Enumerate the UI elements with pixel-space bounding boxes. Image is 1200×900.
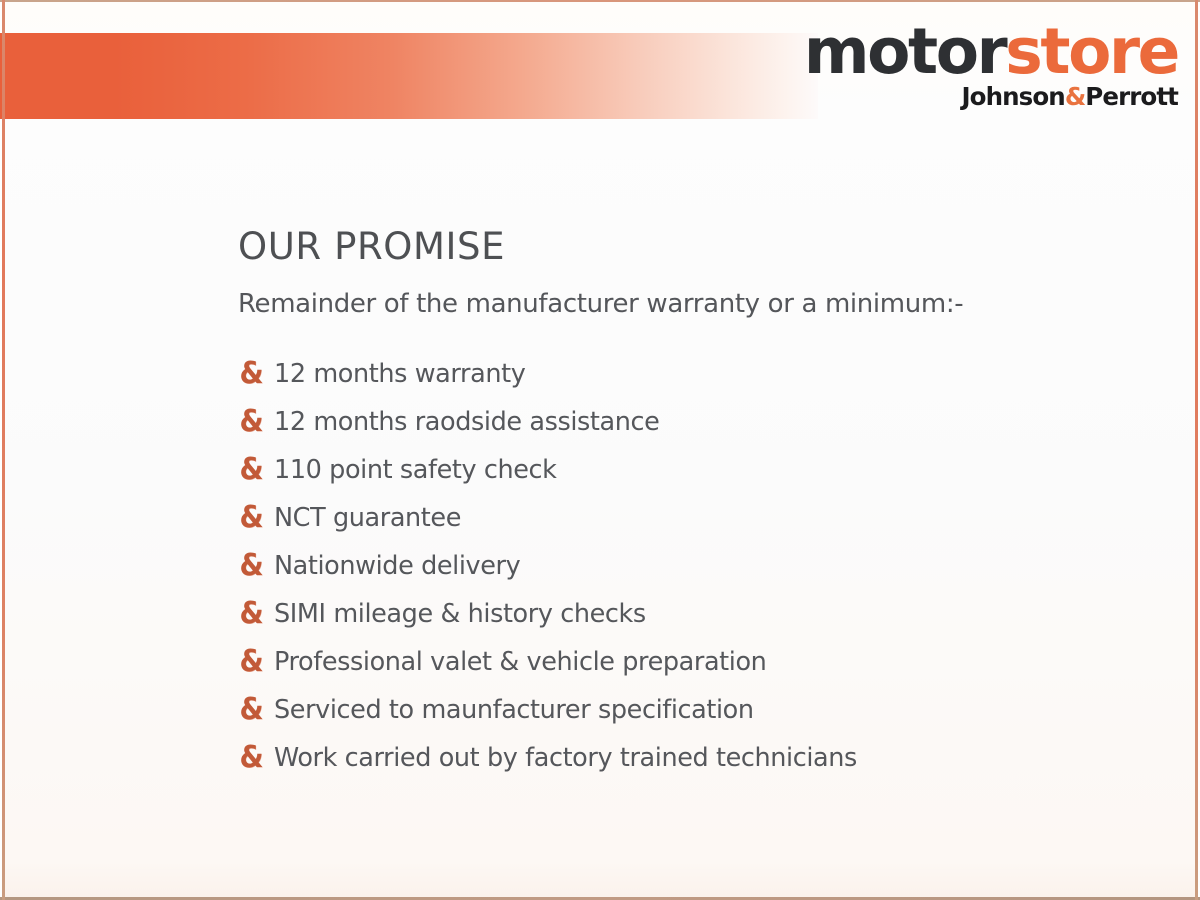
promise-content: OUR PROMISE Remainder of the manufacture…	[238, 228, 1138, 783]
header-gradient-band	[0, 33, 818, 119]
list-item: & Professional valet & vehicle preparati…	[238, 639, 1138, 687]
logo-wordmark: motorstore	[804, 22, 1178, 82]
list-item-label: Professional valet & vehicle preparation	[274, 650, 766, 676]
motorstore-logo: motorstore Johnson&Perrott	[804, 22, 1178, 109]
ampersand-bullet-icon: &	[239, 503, 272, 533]
ampersand-bullet-icon: &	[239, 551, 272, 581]
logo-johnson-text: Johnson	[961, 82, 1064, 111]
list-item: & Serviced to maunfacturer specification	[238, 687, 1138, 735]
list-item: & SIMI mileage & history checks	[238, 591, 1138, 639]
list-item-label: 12 months raodside assistance	[274, 410, 659, 436]
ampersand-bullet-icon: &	[239, 455, 272, 485]
list-item-label: Serviced to maunfacturer specification	[274, 698, 754, 724]
logo-motor-text: motor	[804, 15, 1005, 88]
ampersand-bullet-icon: &	[239, 695, 272, 725]
ampersand-bullet-icon: &	[239, 647, 272, 677]
frame-border-right	[1195, 0, 1198, 900]
ampersand-bullet-icon: &	[239, 359, 272, 389]
ampersand-bullet-icon: &	[239, 407, 272, 437]
list-item: & 12 months warranty	[238, 351, 1138, 399]
list-item-label: SIMI mileage & history checks	[274, 602, 646, 628]
list-item: & 110 point safety check	[238, 447, 1138, 495]
promise-subtitle: Remainder of the manufacturer warranty o…	[238, 291, 1138, 317]
list-item: & Work carried out by factory trained te…	[238, 735, 1138, 783]
list-item-label: Nationwide delivery	[274, 554, 520, 580]
list-item-label: 110 point safety check	[274, 458, 557, 484]
logo-ampersand-icon: &	[1065, 82, 1085, 111]
ampersand-bullet-icon: &	[239, 599, 272, 629]
promise-slide: motorstore Johnson&Perrott OUR PROMISE R…	[0, 0, 1200, 900]
list-item: & Nationwide delivery	[238, 543, 1138, 591]
promise-list: & 12 months warranty & 12 months raodsid…	[238, 351, 1138, 783]
list-item-label: 12 months warranty	[274, 362, 525, 388]
list-item-label: Work carried out by factory trained tech…	[274, 746, 857, 772]
page-title: OUR PROMISE	[238, 228, 1138, 265]
ampersand-bullet-icon: &	[239, 743, 272, 773]
list-item-label: NCT guarantee	[274, 506, 461, 532]
list-item: & 12 months raodside assistance	[238, 399, 1138, 447]
logo-store-text: store	[1005, 15, 1178, 88]
logo-perrott-text: Perrott	[1085, 82, 1178, 111]
list-item: & NCT guarantee	[238, 495, 1138, 543]
logo-subtitle: Johnson&Perrott	[804, 85, 1178, 110]
